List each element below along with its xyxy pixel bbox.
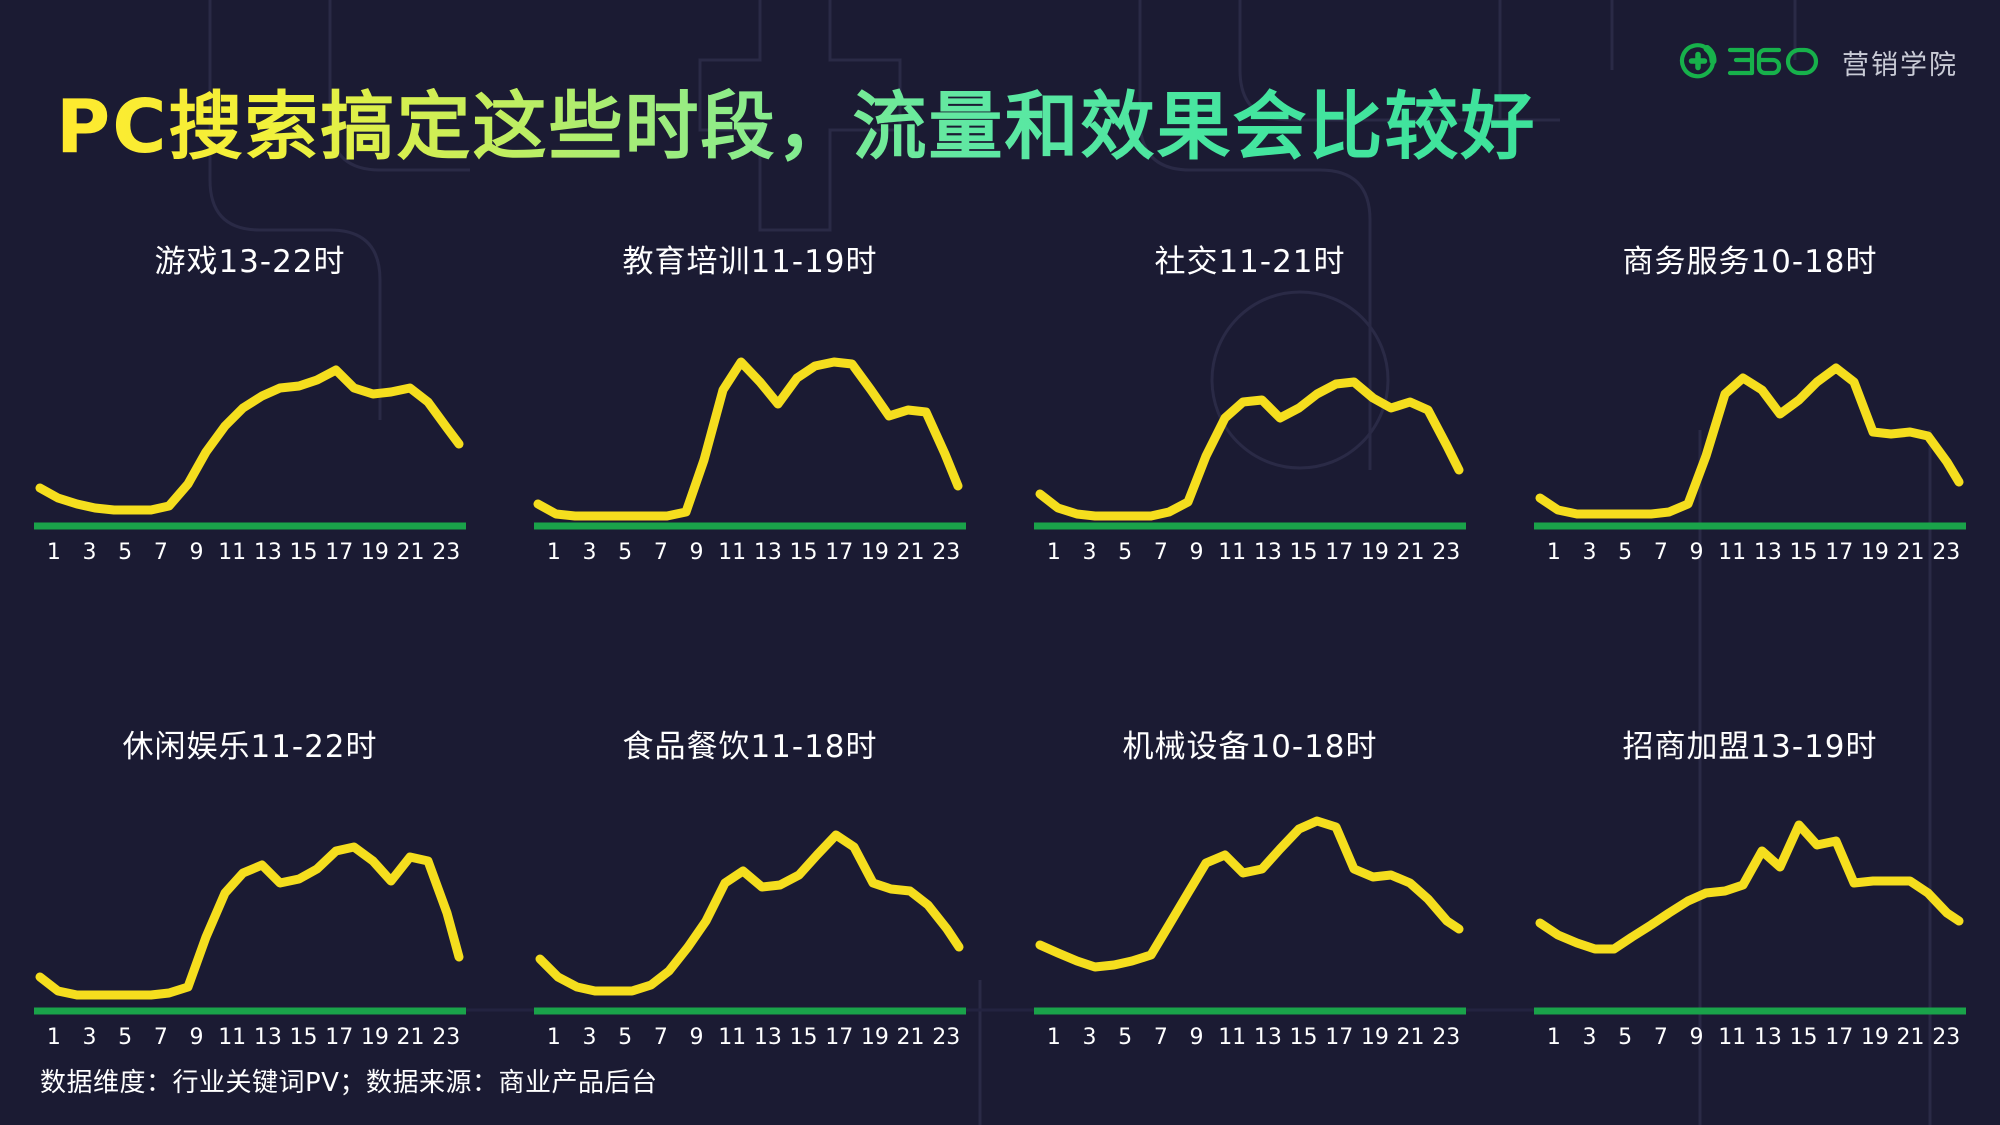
x-tick: 19 xyxy=(857,540,893,565)
x-tick: 19 xyxy=(1857,1025,1893,1050)
chart-title: 食品餐饮11-18时 xyxy=(534,725,966,769)
x-tick: 5 xyxy=(107,540,143,565)
x-tick: 13 xyxy=(750,540,786,565)
x-tick: 21 xyxy=(893,1025,929,1050)
x-tick: 23 xyxy=(1928,1025,1964,1050)
chart-title: 社交11-21时 xyxy=(1034,240,1466,284)
x-tick: 21 xyxy=(393,540,429,565)
x-tick: 21 xyxy=(393,1025,429,1050)
x-tick: 15 xyxy=(1286,1025,1322,1050)
x-tick: 3 xyxy=(572,540,608,565)
x-tick: 19 xyxy=(857,1025,893,1050)
sparkline-教育培训 xyxy=(534,332,966,532)
x-tick: 17 xyxy=(821,540,857,565)
x-tick: 7 xyxy=(1643,1025,1679,1050)
chart-card-社交[interactable]: 社交11-21时 1 3 5 7 9 11 13 15 17 xyxy=(1000,240,1500,640)
x-tick: 23 xyxy=(928,540,964,565)
x-tick: 15 xyxy=(286,1025,322,1050)
x-tick: 11 xyxy=(1214,540,1250,565)
sparkline-path xyxy=(1040,382,1459,516)
x-tick: 19 xyxy=(357,540,393,565)
x-tick: 15 xyxy=(1286,540,1322,565)
chart-title: 招商加盟13-19时 xyxy=(1534,725,1966,769)
x-tick: 5 xyxy=(1607,1025,1643,1050)
x-tick: 13 xyxy=(1250,540,1286,565)
x-tick: 1 xyxy=(1536,540,1572,565)
x-tick: 23 xyxy=(428,540,464,565)
x-tick: 17 xyxy=(1821,540,1857,565)
x-axis-labels: 1 3 5 7 9 11 13 15 17 19 21 23 xyxy=(1034,540,1466,565)
x-axis-labels: 1 3 5 7 9 11 13 15 17 19 21 23 xyxy=(1034,1025,1466,1050)
charts-grid: 游戏13-22时 1 3 5 7 9 11 13 15 17 xyxy=(0,240,2000,1125)
sparkline-商务服务 xyxy=(1534,332,1966,532)
logo-wordmark: 营销学院 xyxy=(1842,43,1958,82)
x-tick: 1 xyxy=(36,1025,72,1050)
x-tick: 9 xyxy=(1679,1025,1715,1050)
x-tick: 3 xyxy=(1072,540,1108,565)
x-tick: 9 xyxy=(179,540,215,565)
sparkline-食品餐饮 xyxy=(534,817,966,1017)
chart-title: 机械设备10-18时 xyxy=(1034,725,1466,769)
data-source-note: 数据维度：行业关键词PV；数据来源：商业产品后台 xyxy=(40,1062,657,1099)
x-tick: 15 xyxy=(786,540,822,565)
page-title: PC搜索搞定这些时段，流量和效果会比较好 xyxy=(56,88,1537,168)
x-tick: 1 xyxy=(536,540,572,565)
x-tick: 5 xyxy=(607,540,643,565)
x-tick: 23 xyxy=(428,1025,464,1050)
sparkline-path xyxy=(1540,368,1959,514)
x-tick: 1 xyxy=(1536,1025,1572,1050)
sparkline-机械设备 xyxy=(1034,817,1466,1017)
x-tick: 21 xyxy=(1393,540,1429,565)
x-tick: 9 xyxy=(1679,540,1715,565)
x-tick: 19 xyxy=(1357,540,1393,565)
x-tick: 15 xyxy=(1786,540,1822,565)
x-tick: 21 xyxy=(893,540,929,565)
x-tick: 23 xyxy=(1428,1025,1464,1050)
x-axis-labels: 1 3 5 7 9 11 13 15 17 19 21 23 xyxy=(34,1025,466,1050)
chart-title: 游戏13-22时 xyxy=(34,240,466,284)
x-tick: 3 xyxy=(1572,1025,1608,1050)
x-tick: 11 xyxy=(214,540,250,565)
x-tick: 19 xyxy=(1857,540,1893,565)
x-tick: 21 xyxy=(1893,540,1929,565)
x-tick: 19 xyxy=(1357,1025,1393,1050)
x-tick: 13 xyxy=(1250,1025,1286,1050)
chart-card-招商加盟[interactable]: 招商加盟13-19时 1 3 5 7 9 11 13 15 17 xyxy=(1500,725,2000,1125)
sparkline-path xyxy=(1540,825,1959,949)
x-tick: 13 xyxy=(750,1025,786,1050)
sparkline-path xyxy=(40,847,459,995)
x-axis-labels: 1 3 5 7 9 11 13 15 17 19 21 23 xyxy=(1534,540,1966,565)
chart-title: 休闲娱乐11-22时 xyxy=(34,725,466,769)
x-tick: 19 xyxy=(357,1025,393,1050)
x-tick: 5 xyxy=(1107,1025,1143,1050)
sparkline-社交 xyxy=(1034,332,1466,532)
x-tick: 11 xyxy=(714,1025,750,1050)
chart-row-1: 游戏13-22时 1 3 5 7 9 11 13 15 17 xyxy=(0,240,2000,640)
chart-card-游戏[interactable]: 游戏13-22时 1 3 5 7 9 11 13 15 17 xyxy=(0,240,500,640)
sparkline-休闲娱乐 xyxy=(34,817,466,1017)
x-tick: 21 xyxy=(1893,1025,1929,1050)
x-tick: 17 xyxy=(321,540,357,565)
sparkline-招商加盟 xyxy=(1534,817,1966,1017)
chart-card-教育培训[interactable]: 教育培训11-19时 1 3 5 7 9 11 13 15 17 xyxy=(500,240,1000,640)
x-tick: 7 xyxy=(1143,1025,1179,1050)
x-tick: 17 xyxy=(321,1025,357,1050)
x-tick: 13 xyxy=(250,540,286,565)
x-tick: 5 xyxy=(1607,540,1643,565)
brand-logo: 营销学院 xyxy=(1676,38,1958,86)
x-axis-labels: 1 3 5 7 9 11 13 15 17 19 21 23 xyxy=(1534,1025,1966,1050)
x-tick: 11 xyxy=(1714,540,1750,565)
x-tick: 9 xyxy=(179,1025,215,1050)
x-tick: 7 xyxy=(643,1025,679,1050)
x-tick: 1 xyxy=(1036,540,1072,565)
x-tick: 5 xyxy=(1107,540,1143,565)
x-tick: 7 xyxy=(1643,540,1679,565)
slide-canvas: 营销学院 PC搜索搞定这些时段，流量和效果会比较好 游戏13-22时 1 3 5… xyxy=(0,0,2000,1125)
x-tick: 17 xyxy=(1321,540,1357,565)
chart-title: 教育培训11-19时 xyxy=(534,240,966,284)
x-tick: 23 xyxy=(928,1025,964,1050)
x-tick: 1 xyxy=(536,1025,572,1050)
x-tick: 1 xyxy=(36,540,72,565)
x-tick: 3 xyxy=(572,1025,608,1050)
x-tick: 7 xyxy=(643,540,679,565)
x-tick: 11 xyxy=(214,1025,250,1050)
x-tick: 17 xyxy=(1821,1025,1857,1050)
x-tick: 9 xyxy=(1179,540,1215,565)
x-tick: 15 xyxy=(1786,1025,1822,1050)
x-tick: 15 xyxy=(786,1025,822,1050)
sparkline-path xyxy=(540,835,959,991)
chart-card-机械设备[interactable]: 机械设备10-18时 1 3 5 7 9 11 13 15 17 xyxy=(1000,725,1500,1125)
logo-360-icon xyxy=(1676,39,1828,85)
x-tick: 9 xyxy=(1179,1025,1215,1050)
x-tick: 9 xyxy=(679,540,715,565)
sparkline-path xyxy=(1040,821,1459,967)
x-tick: 7 xyxy=(1143,540,1179,565)
x-axis-labels: 1 3 5 7 9 11 13 15 17 19 21 23 xyxy=(534,540,966,565)
sparkline-path xyxy=(40,370,459,510)
x-tick: 3 xyxy=(1072,1025,1108,1050)
x-tick: 3 xyxy=(1572,540,1608,565)
x-tick: 17 xyxy=(1321,1025,1357,1050)
x-axis-labels: 1 3 5 7 9 11 13 15 17 19 21 23 xyxy=(534,1025,966,1050)
chart-title: 商务服务10-18时 xyxy=(1534,240,1966,284)
x-tick: 11 xyxy=(714,540,750,565)
x-tick: 17 xyxy=(821,1025,857,1050)
x-axis-labels: 1 3 5 7 9 11 13 15 17 19 21 23 xyxy=(34,540,466,565)
x-tick: 13 xyxy=(1750,540,1786,565)
x-tick: 5 xyxy=(107,1025,143,1050)
x-tick: 3 xyxy=(72,1025,108,1050)
x-tick: 1 xyxy=(1036,1025,1072,1050)
x-tick: 13 xyxy=(250,1025,286,1050)
x-tick: 7 xyxy=(143,1025,179,1050)
x-tick: 5 xyxy=(607,1025,643,1050)
chart-card-商务服务[interactable]: 商务服务10-18时 1 3 5 7 9 11 13 15 17 xyxy=(1500,240,2000,640)
x-tick: 11 xyxy=(1214,1025,1250,1050)
x-tick: 13 xyxy=(1750,1025,1786,1050)
x-tick: 15 xyxy=(286,540,322,565)
x-tick: 7 xyxy=(143,540,179,565)
x-tick: 3 xyxy=(72,540,108,565)
x-tick: 23 xyxy=(1928,540,1964,565)
sparkline-path xyxy=(538,362,958,516)
x-tick: 11 xyxy=(1714,1025,1750,1050)
x-tick: 9 xyxy=(679,1025,715,1050)
x-tick: 23 xyxy=(1428,540,1464,565)
x-tick: 21 xyxy=(1393,1025,1429,1050)
sparkline-游戏 xyxy=(34,332,466,532)
